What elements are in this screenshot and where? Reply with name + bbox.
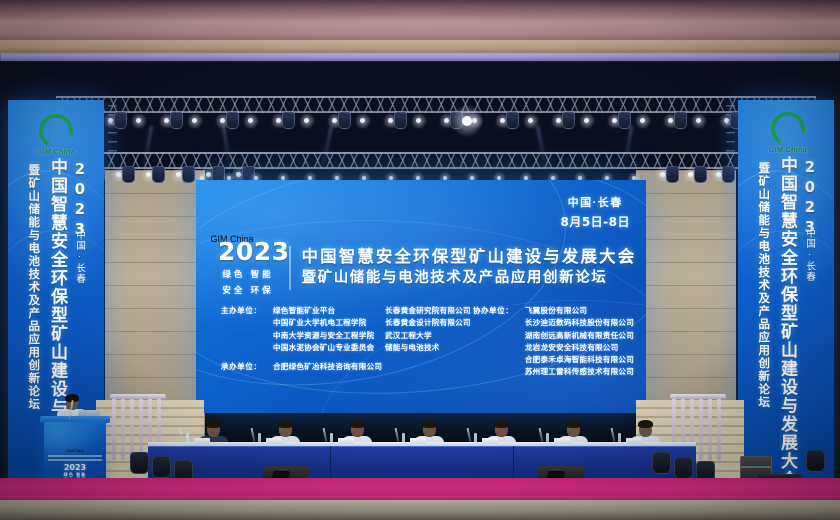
floor-moving-light [652,452,671,474]
side-banner-title-sub: 暨矿山储能与电池技术及产品应用创新论坛 [27,164,39,411]
host-sponsors-lists: 绿色智能矿业平台中国矿业大学机电工程学院中南大学资源与安全工程学院中国水泥协会矿… [273,305,471,354]
moving-head-light [666,166,679,183]
sponsor-item: 龙岩龙安安全科技有限公司 [525,342,634,354]
side-banner-year: 2023 [801,158,817,238]
participant-nameplate [626,438,642,444]
participant-head [567,422,580,437]
side-banner-title-main: 中国智慧安全环保型矿山建设与发展大会 [778,156,796,482]
floor-moving-light [806,450,825,472]
logo-ring-icon [771,112,805,146]
moving-head-light [122,166,135,183]
stage-lamp [136,118,141,123]
floor-moving-light [674,457,693,479]
participant-hair [206,420,221,428]
stage-lamp [388,118,393,123]
stage-lamp [220,118,225,123]
participant-hair [422,420,437,428]
side-led-banner-right: GIM China 2023 中国·长春 中国智慧安全环保型矿山建设与发展大会 … [738,100,834,482]
logo-text: GIM China [26,149,86,156]
stage-lamp [192,118,197,123]
stage-lamp [688,172,693,177]
participant-head [207,422,220,437]
stage-lamp [462,116,472,126]
stage-lamp [556,118,561,123]
sponsors-block: 主办单位： 绿色智能矿业平台中国矿业大学机电工程学院中南大学资源与安全工程学院中… [221,305,634,380]
stage-lamp [668,118,673,123]
organizer-label: 承办单位： [221,361,273,373]
gim-china-logo: GIM China [26,114,86,156]
moving-head-light [394,112,407,129]
sponsor-item: 飞翼股份有限公司 [525,305,634,317]
moving-head-light [722,166,735,183]
stage-lamp [248,118,253,123]
stage-lamp [444,118,449,123]
logo-swoosh-icon [43,123,70,140]
logo-ring-icon [66,429,85,448]
host-sponsors-column-2: 长春黄金研究院有限公司长春黄金设计院有限公司武汉工程大学储能与电池技术 [385,305,471,354]
stage-lamp [696,118,701,123]
stage-lamp [146,172,151,177]
floor-moving-light [152,456,171,478]
participant-hair [278,420,293,428]
sponsor-item: 长春黄金设计院有限公司 [385,317,471,329]
title-divider [289,246,291,290]
participant-hair [638,420,653,428]
gim-china-logo: GIM China [66,429,85,453]
event-title-main: 中国智慧安全环保型矿山建设与发展大会 [302,247,637,268]
moving-head-light [338,112,351,129]
screen-title-row: 2023 绿色 智能 安全 环保 中国智慧安全环保型矿山建设与发展大会 暨矿山储… [218,239,636,296]
balustrade-rail-right [670,394,726,399]
stage-lamp [640,118,645,123]
water-bottle [474,433,477,442]
side-banner-city: 中国·长春 [804,228,814,282]
stage-apron-front [0,500,840,520]
participant-head [639,422,652,437]
stage-lamp [176,172,181,177]
sponsor-item: 长沙迪迈数码科技股份有限公司 [525,317,634,329]
event-titles: 中国智慧安全环保型矿山建设与发展大会 暨矿山储能与电池技术及产品应用创新论坛 [302,247,637,288]
host-sponsors-label: 主办单位： [221,305,273,354]
host-sponsors-group: 主办单位： 绿色智能矿业平台中国矿业大学机电工程学院中南大学资源与安全工程学院中… [221,305,473,354]
moving-head-light [694,166,707,183]
sponsor-item: 储能与电池技术 [385,342,471,354]
sponsor-item: 苏州理工雷科传感技术有限公司 [525,366,634,378]
stage-lamp [276,118,281,123]
sponsor-item: 合肥泰禾卓海智能科技有限公司 [525,354,634,366]
lighting-truss-upper [56,96,816,113]
sponsors-column-right: 协办单位： 飞翼股份有限公司长沙迪迈数码科技股份有限公司湖南创远高新机械有限责任… [473,305,634,380]
coorganizer-group: 协办单位： 飞翼股份有限公司长沙迪迈数码科技股份有限公司湖南创远高新机械有限责任… [473,305,634,379]
participant-head [279,422,292,437]
sponsor-item: 长春黄金研究院有限公司 [385,305,471,317]
participant-nameplate [554,438,570,444]
stage-lamp [416,118,421,123]
stage-lamp [332,118,337,123]
participant-hair [494,420,509,428]
event-title-sub: 暨矿山储能与电池技术及产品应用创新论坛 [302,269,637,288]
coorganizer-list: 飞翼股份有限公司长沙迪迈数码科技股份有限公司湖南创远高新机械有限责任公司龙岩龙安… [525,305,634,379]
gim-china-logo: GIM China [758,112,818,154]
stage-lamp [612,118,617,123]
participant-head [351,422,364,437]
event-dates: 8月5日-8日 [560,213,630,230]
event-slogan-line1: 绿色 智能 [218,268,278,280]
participant-hair [350,420,365,428]
stage-lamp [660,172,665,177]
moving-head-light [226,112,239,129]
stage-lamp [108,118,113,123]
sponsor-item: 武汉工程大学 [385,330,471,342]
floor-moving-light [130,452,149,474]
host-sponsors-column-1: 绿色智能矿业平台中国矿业大学机电工程学院中南大学资源与安全工程学院中国水泥协会矿… [273,305,385,354]
moving-head-light [506,112,519,129]
logo-text: GIM China [758,147,818,154]
moving-head-light [562,112,575,129]
logo-text: GIM China [66,449,85,453]
event-city: 中国·长春 [560,194,630,210]
logo-ring-icon [39,114,73,148]
participant-nameplate [194,438,210,444]
water-bottle [258,433,261,442]
stage-lamp [116,172,121,177]
sponsors-column-left: 主办单位： 绿色智能矿业平台中国矿业大学机电工程学院中南大学资源与安全工程学院中… [221,305,473,380]
event-year-block: 2023 绿色 智能 安全 环保 [218,239,278,296]
stage-lamp [360,118,365,123]
stage-lamp [716,172,721,177]
stage-lamp [584,118,589,123]
stage-lamp [500,118,505,123]
participant-hair [566,420,581,428]
moving-head-light [152,166,165,183]
side-banner-city: 中国·长春 [74,230,84,284]
moving-head-light [674,112,687,129]
podium: GIM China 2023 绿色 智能 安全 环保 [44,422,106,480]
sponsor-item: 中国矿业大学机电工程学院 [273,317,385,329]
sponsor-item: 中南大学资源与安全工程学院 [273,330,385,342]
participant-nameplate [482,438,498,444]
event-slogan-line2: 安全 环保 [218,284,278,296]
podium-title-line-2 [48,459,102,461]
organizer-group: 承办单位： 合肥绿色矿冶科技咨询有限公司 [221,361,473,373]
participant-nameplate [266,438,282,444]
stage-lamp [724,118,729,123]
sponsor-item: 中国水泥协会矿山专业委员会 [273,342,385,354]
water-bottle [546,433,549,442]
side-banner-year: 2023 [71,160,87,240]
water-bottle [402,433,405,442]
stage-lamp [528,118,533,123]
moving-head-light [182,166,195,183]
moving-head-light [114,112,127,129]
logo-swoosh-icon [775,121,802,138]
coorganizer-label: 协办单位： [473,305,525,379]
event-year: 2023 [218,239,278,264]
logo-ring-icon [210,188,254,232]
participant-head [423,422,436,437]
water-bottle [618,433,621,442]
participant-head [495,422,508,437]
ceiling-cornice [0,40,840,54]
moving-head-light [282,112,295,129]
main-led-screen: GIM China 中国·长春 8月5日-8日 2023 绿色 智能 安全 环保… [196,180,646,413]
side-banner-title-sub: 暨矿山储能与电池技术及产品应用创新论坛 [757,162,769,409]
sponsor-item: 绿色智能矿业平台 [273,305,385,317]
date-location-block: 中国·长春 8月5日-8日 [560,194,630,230]
participant-nameplate [338,438,354,444]
sponsor-item: 合肥绿色矿冶科技咨询有限公司 [273,361,382,373]
moving-head-light [170,112,183,129]
gim-china-logo: GIM China [210,188,254,244]
stage-lamp [304,118,309,123]
organizer-list: 合肥绿色矿冶科技咨询有限公司 [273,361,382,373]
sponsor-item: 湖南创远高新机械有限责任公司 [525,330,634,342]
stage-lamp [164,118,169,123]
conference-stage-photo: GIM China 2023 中国·长春 中国智慧安全环保型矿山建设与发展大会 … [0,0,840,520]
stage-lamp [236,172,241,177]
balustrade-rail-left [110,394,166,399]
water-bottle [186,433,189,442]
participant-nameplate [410,438,426,444]
podium-title-line-1 [48,455,102,457]
podium-year: 2023 [44,463,106,472]
water-bottle [330,433,333,442]
